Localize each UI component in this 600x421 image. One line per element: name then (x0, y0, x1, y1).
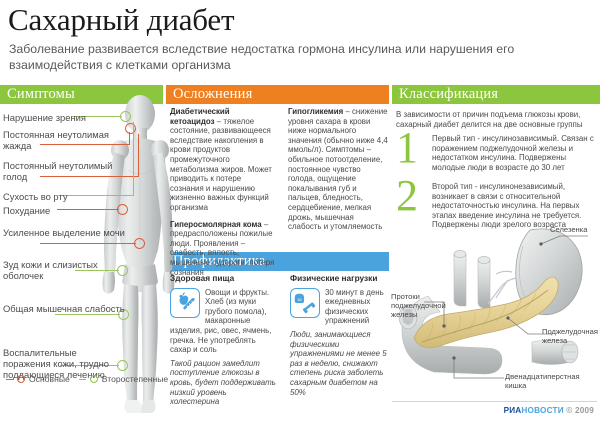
organ-label-duodenum: Двенадцатиперстная кишка (505, 372, 569, 390)
symptom-item-dry-mouth: Сухость во рту (3, 191, 125, 202)
copyright-text: © 2009 (566, 406, 594, 415)
marker-thirst (125, 123, 136, 134)
leader-line-urination (40, 243, 136, 244)
dumbbell-icon: 16 (290, 288, 320, 318)
apple-bread-icon (170, 288, 200, 318)
leader-line-dry-mouth-riser (133, 122, 134, 196)
symptom-item-vision: Нарушение зрения (3, 112, 125, 123)
complication-term-hypoglycemia: Гипогликемия (288, 107, 343, 116)
footer-divider (392, 401, 597, 402)
legend-lead-secondary (79, 379, 86, 380)
classification-number-2: 2 (396, 174, 418, 218)
symptoms-legend: Основные Второстепенные (6, 374, 168, 384)
prevention-sport-heading: Физические нагрузки (290, 274, 390, 284)
symptom-item-hunger: Постоянный неутолимый голод (3, 160, 125, 182)
legend-lead-primary (6, 379, 13, 380)
marker-urination (134, 238, 145, 249)
legend-label-primary: Основные (29, 374, 70, 384)
organ-label-pancreas: Поджелудочная железа (542, 327, 598, 345)
page-title: Сахарный диабет (8, 2, 234, 38)
complication-hyperosmolar: Гиперосмолярная кома – предрасположены п… (170, 220, 276, 278)
symptom-item-muscle-weakness: Общая мышечная слабость (3, 303, 125, 314)
classification-number-1: 1 (396, 126, 418, 170)
brand-ria: РИА (504, 406, 522, 415)
footer-credit: РИАНОВОСТИ © 2009 (504, 406, 594, 415)
organ-label-spleen: Селезенка (550, 225, 598, 234)
complication-ketoacidosis: Диабетический кетоацидоз – тяжелое состо… (170, 107, 276, 213)
prevention-food-block: Здоровая пища Овощи и фрукты. Хлеб (из м… (170, 274, 278, 407)
prevention-food-heading: Здоровая пища (170, 274, 278, 284)
symptom-item-thirst: Постоянная неутолимая жажда (3, 129, 125, 151)
classification-intro: В зависимости от причин подъема глюкозы … (396, 110, 592, 129)
complication-hypoglycemia: Гипогликемия – снижение уровня сахара в … (288, 107, 388, 232)
symptom-item-urination: Усиленное выделение мочи (3, 227, 125, 238)
prevention-sport-text: 30 минут в день ежедневных физических уп… (325, 288, 384, 326)
complication-body-hypoglycemia: – снижение уровня сахара в крови ниже но… (288, 107, 388, 231)
classification-text-1: Первый тип - инсулинозависимый. Связан с… (432, 134, 596, 172)
hypoglycemia-text-column: Гипогликемия – снижение уровня сахара в … (288, 107, 388, 239)
leader-line-hunger-riser (138, 134, 139, 177)
page-subtitle: Заболевание развивается вследствие недос… (9, 42, 589, 73)
organ-label-pancreatic-ducts: Протоки поджелудочной железы (391, 292, 431, 319)
complications-text-column: Диабетический кетоацидоз – тяжелое состо… (170, 107, 276, 284)
section-header-complications: Осложнения (166, 85, 389, 104)
section-header-classification: Классификация (392, 85, 600, 104)
classification-type-1: 1 Первый тип - инсулинозависимый. Связан… (396, 134, 596, 172)
prevention-sport-block: Физические нагрузки 16 30 минут в день е… (290, 274, 390, 397)
prevention-food-note: Такой рацион замедлит поступление глюкоз… (170, 359, 278, 407)
legend-dot-secondary (90, 375, 98, 383)
brand-novosti: НОВОСТИ (521, 406, 563, 415)
legend-label-secondary: Второстепенные (102, 374, 168, 384)
complication-body-ketoacidosis: – тяжелое состояние, развивающееся вслед… (170, 117, 272, 212)
symptom-item-weight-loss: Похудание (3, 205, 125, 216)
svg-text:16: 16 (297, 296, 301, 301)
legend-dot-primary (17, 375, 25, 383)
complication-term-hyperosmolar: Гиперосмолярная кома (170, 220, 262, 229)
pancreas-illustration: Селезенка Протоки поджелудочной железы П… (392, 222, 600, 397)
prevention-sport-note: Люди, занимающиеся физическими упражнени… (290, 330, 390, 397)
infographic-page: Сахарный диабет Заболевание развивается … (0, 0, 600, 421)
symptom-item-itching: Зуд кожи и слизистых оболочек (3, 259, 125, 281)
